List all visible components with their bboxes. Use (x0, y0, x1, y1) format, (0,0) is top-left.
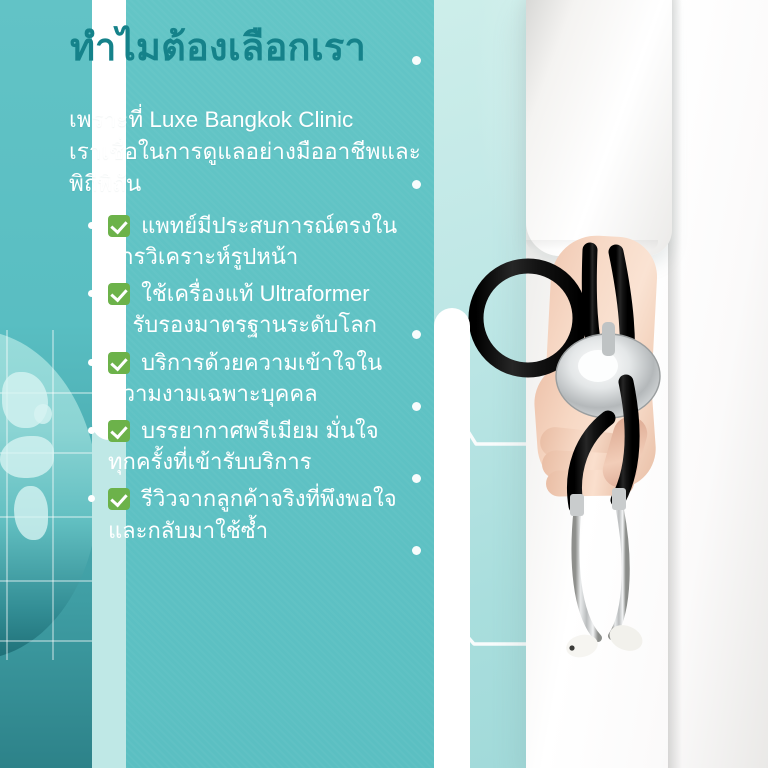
list-item: รีวิวจากลูกค้าจริงที่พึงพอใจ และกลับมาใช… (88, 483, 448, 545)
benefit-line-1: บริการด้วยความเข้าใจใน (141, 350, 382, 375)
intro-line-1: เพราะที่ Luxe Bangkok Clinic (69, 107, 353, 132)
globe-landmass (34, 404, 52, 424)
page-title: ทำไมต้องเลือกเรา (70, 28, 448, 70)
intro-line-2: เราเชื่อในการดูแลอย่างมืออาชีพและ (69, 139, 421, 164)
globe-landmass (14, 486, 48, 540)
benefit-line-1: แพทย์มีประสบการณ์ตรงใน (141, 213, 397, 238)
intro-line-3: พิถีพิถัน (69, 171, 141, 196)
globe-longitude-line (52, 330, 54, 660)
benefit-line-2: III รับรองมาตรฐานระดับโลก (108, 312, 377, 337)
benefit-line-2: ความงามเฉพาะบุคคล (108, 381, 318, 406)
bullet-dot-icon (88, 222, 95, 229)
benefit-line-2: การวิเคราะห์รูปหน้า (108, 244, 298, 269)
check-icon (108, 352, 130, 374)
poster-content: ทำไมต้องเลือกเรา เพราะที่ Luxe Bangkok C… (62, 20, 448, 720)
stethoscope-icon (430, 0, 768, 768)
bullet-dot-icon (88, 427, 95, 434)
check-icon (108, 420, 130, 442)
intro-paragraph: เพราะที่ Luxe Bangkok Clinic เราเชื่อในก… (69, 104, 448, 200)
benefit-line-1: ใช้เครื่องแท้ Ultraformer (141, 281, 370, 306)
bullet-dot-icon (88, 359, 95, 366)
doctor-photo (430, 0, 768, 768)
list-item: แพทย์มีประสบการณ์ตรงใน การวิเคราะห์รูปหน… (88, 210, 448, 272)
bullet-dot-icon (88, 290, 95, 297)
list-item: บริการด้วยความเข้าใจใน ความงามเฉพาะบุคคล (88, 347, 448, 409)
globe-landmass (0, 436, 54, 478)
check-icon (108, 283, 130, 305)
benefit-line-2: ทุกครั้งที่เข้ารับบริการ (108, 449, 312, 474)
promo-poster: ทำไมต้องเลือกเรา เพราะที่ Luxe Bangkok C… (0, 0, 768, 768)
benefit-line-2: และกลับมาใช้ซ้ำ (108, 518, 268, 543)
check-icon (108, 488, 130, 510)
list-item: บรรยากาศพรีเมียม มั่นใจ ทุกครั้งที่เข้าร… (88, 415, 448, 477)
check-icon (108, 215, 130, 237)
bullet-dot-icon (88, 495, 95, 502)
list-item: ใช้เครื่องแท้ Ultraformer III รับรองมาตร… (88, 278, 448, 340)
benefit-line-1: รีวิวจากลูกค้าจริงที่พึงพอใจ (141, 486, 397, 511)
benefit-list: แพทย์มีประสบการณ์ตรงใน การวิเคราะห์รูปหน… (88, 210, 448, 546)
benefit-line-1: บรรยากาศพรีเมียม มั่นใจ (141, 418, 379, 443)
